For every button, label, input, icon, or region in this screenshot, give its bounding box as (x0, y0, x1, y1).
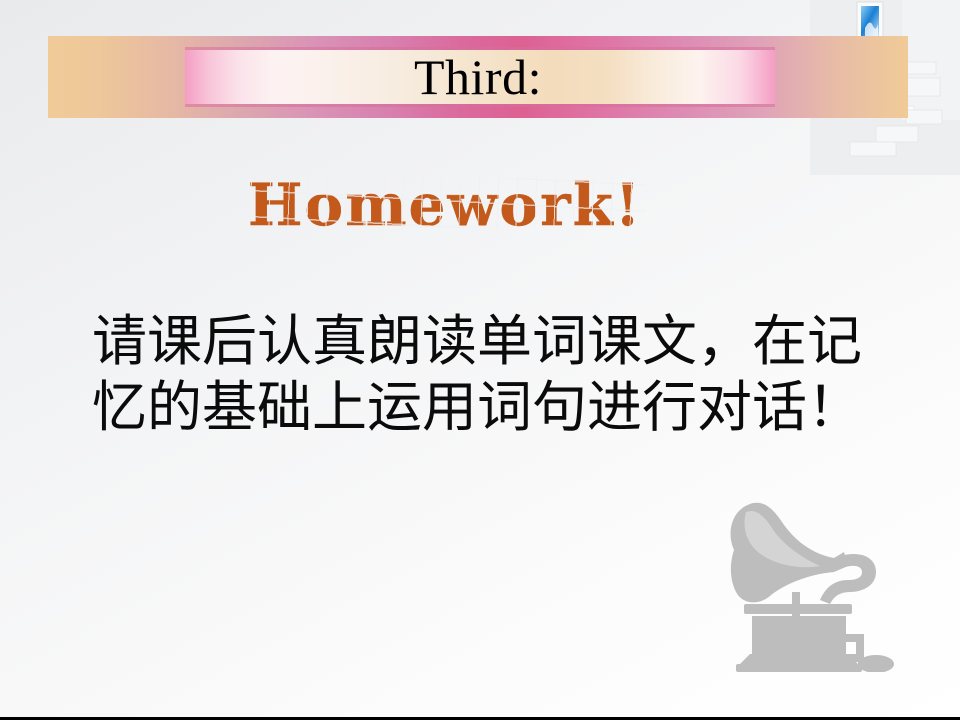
title-banner: Third: (48, 36, 908, 118)
slide-canvas: Third: Homework! 请课后认真朗读单词课文，在记 忆的基础上运用词… (0, 0, 960, 720)
gramophone-icon (716, 492, 926, 672)
page-title: Third: (48, 36, 908, 118)
homework-instructions: 请课后认真朗读单词课文，在记 忆的基础上运用词句进行对话！ (92, 308, 872, 440)
instruction-line-1: 请课后认真朗读单词课文，在记 (92, 308, 872, 374)
homework-heading-text: Homework! (248, 176, 643, 234)
homework-heading: Homework! (0, 176, 890, 234)
instruction-line-2: 忆的基础上运用词句进行对话！ (92, 374, 872, 440)
